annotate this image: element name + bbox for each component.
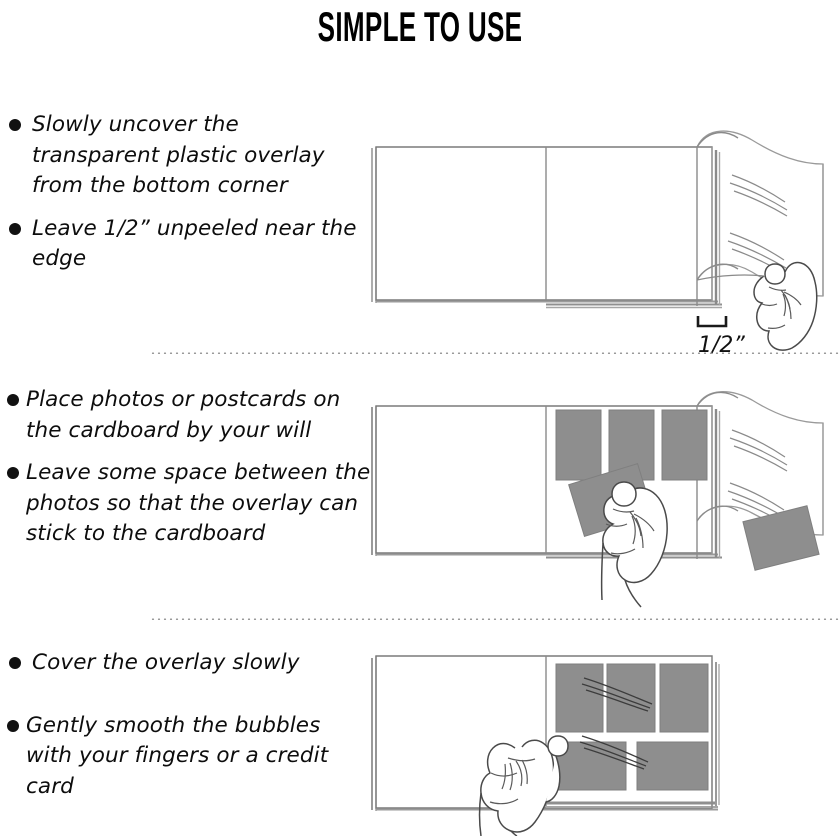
bullet-icon [7,467,19,479]
photo-group [556,664,708,790]
hand-smoothing-bubbles-icon [480,736,569,836]
album-smoothing-overlay-illustration [360,630,840,836]
step-2-panel: Place photos or postcards on the cardboa… [0,385,840,610]
overlay-curl-top [697,133,738,147]
album-peel-overlay-illustration: 1/2” [360,120,840,360]
photo-bottom-2 [637,742,708,790]
overlay-curl-bottom [697,506,738,521]
bullet-icon [9,223,21,235]
list-item-label: Cover the overlay slowly [32,650,300,675]
list-item: Leave 1/2” unpeeled near the edge [0,214,372,275]
bullet-icon [9,657,21,669]
bullet-icon [7,394,19,406]
overlay-curl-bottom [697,264,738,280]
overlay-shine-lines-1 [730,175,787,216]
list-item-label: Gently smooth the bubbles with your fing… [26,713,328,799]
hand-holding-photo-icon [602,482,668,607]
list-item: Cover the overlay slowly [0,648,372,679]
photo-top-3 [660,664,708,732]
list-item-label: Place photos or postcards on the cardboa… [26,387,340,443]
overlay-edge-to-hand [697,275,764,280]
hand-wrist [625,580,641,607]
step-1-panel: Slowly uncover the transparent plastic o… [0,110,840,345]
list-item: Place photos or postcards on the cardboa… [0,385,372,446]
bullet-icon [9,119,21,131]
section-divider [150,352,840,354]
bullet-icon [7,720,19,732]
step-3-panel: Cover the overlay slowly Gently smooth t… [0,630,840,836]
hand-thumb [612,482,636,506]
hand-outline [481,740,554,832]
photo-1 [556,410,601,480]
album-placing-photos-illustration [360,385,840,610]
hand-thumb [765,264,785,284]
photo-floating [743,506,819,570]
measurement-bracket [698,316,726,326]
overlay-curl-top [697,392,738,406]
photo-top-2 [607,664,655,732]
hand-wrist [480,793,482,836]
hand-thumb [548,736,568,756]
page-title: SIMPLE TO USE [160,6,681,48]
list-item-label: Leave 1/2” unpeeled near the edge [32,216,357,272]
list-item: Gently smooth the bubbles with your fing… [0,711,372,803]
list-item-label: Slowly uncover the transparent plastic o… [32,112,325,198]
step-2-instructions: Place photos or postcards on the cardboa… [0,385,372,562]
photo-3 [662,410,707,480]
step-3-instructions: Cover the overlay slowly Gently smooth t… [0,630,372,814]
hand-wrist-left [602,543,603,600]
section-divider [150,618,840,620]
list-item: Slowly uncover the transparent plastic o… [0,110,372,202]
list-item-label: Leave some space between the photos so t… [26,460,370,546]
step-1-instructions: Slowly uncover the transparent plastic o… [0,110,372,287]
measurement-label: 1/2” [698,333,745,358]
album-page-outline [376,147,712,300]
list-item: Leave some space between the photos so t… [0,458,372,550]
overlay-shine-lines-1 [730,430,787,471]
photo-top-1 [556,664,603,732]
